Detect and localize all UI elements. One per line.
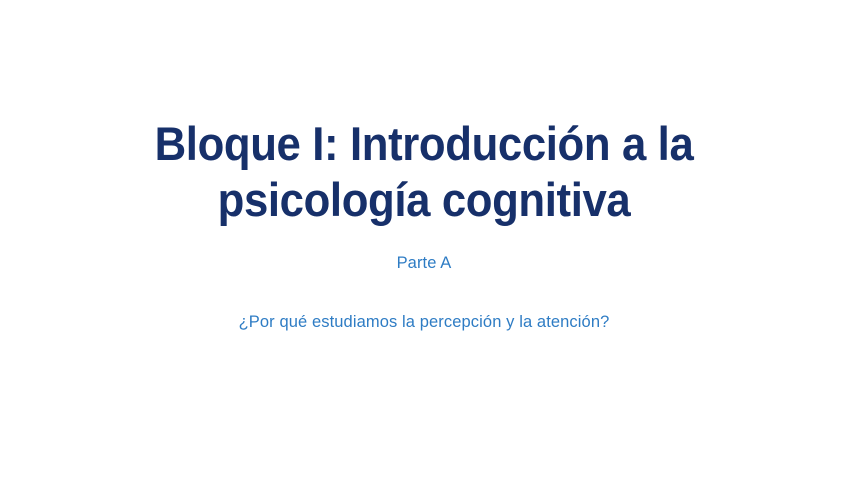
subtitle-question-text: ¿Por qué estudiamos la percepción y la a… [0,312,848,333]
page-title: Bloque I: Introducción a la psicología c… [30,116,819,228]
slide-title-block: Bloque I: Introducción a la psicología c… [0,116,848,228]
subtitle-spacer [0,274,848,312]
slide-canvas: Bloque I: Introducción a la psicología c… [0,0,848,477]
subtitle-part-label: Parte A [0,253,848,274]
slide-subtitle-block: Parte A ¿Por qué estudiamos la percepció… [0,253,848,333]
